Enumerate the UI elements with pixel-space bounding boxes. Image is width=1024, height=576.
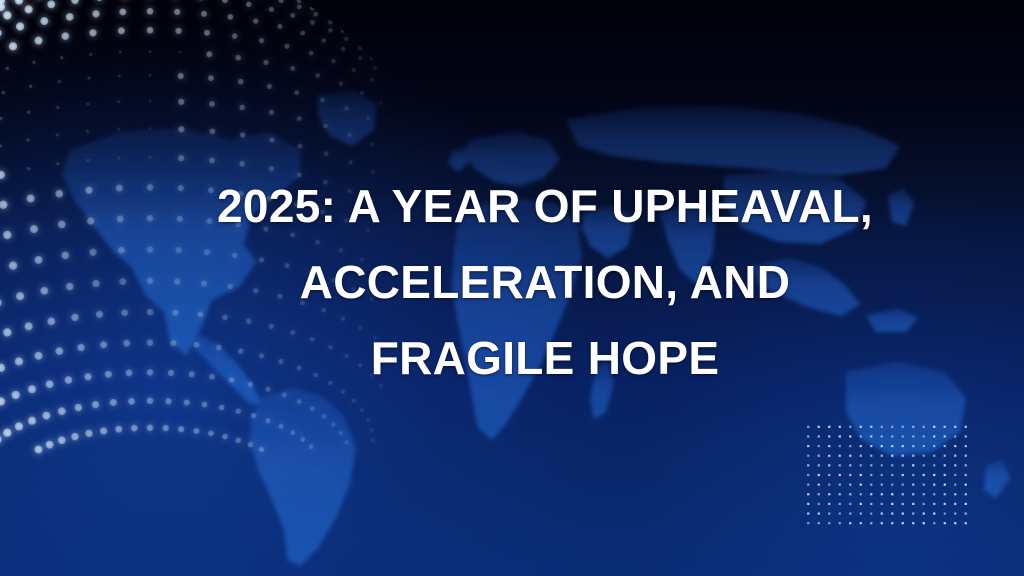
title-line-2: ACCELERATION, AND [120, 244, 970, 320]
page-title: 2025: A YEAR OF UPHEAVAL, ACCELERATION, … [120, 168, 970, 396]
title-slide: 2025: A YEAR OF UPHEAVAL, ACCELERATION, … [0, 0, 1024, 576]
title-line-3: FRAGILE HOPE [120, 320, 970, 396]
title-line-1: 2025: A YEAR OF UPHEAVAL, [120, 168, 970, 244]
